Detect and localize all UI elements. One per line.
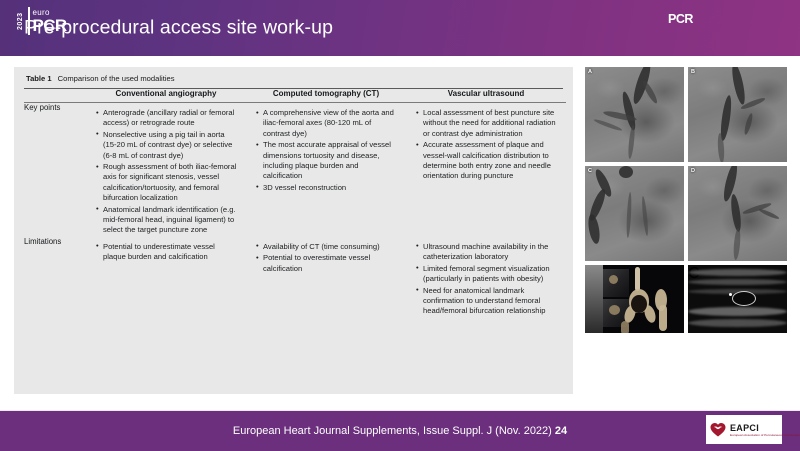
- table-header-row: Conventional angiography Computed tomogr…: [24, 89, 566, 98]
- list-item: Need for anatomical landmark confirmatio…: [416, 286, 558, 317]
- footer-page-number: 24: [555, 425, 567, 437]
- table-caption: Table 1Comparison of the used modalities: [24, 73, 563, 84]
- bullet-list: Ultrasound machine availability in the c…: [406, 237, 566, 317]
- angiography-panel-a: A: [585, 67, 684, 162]
- cell-limitations-ct: Availability of CT (time consuming) Pote…: [246, 237, 406, 318]
- panel-label-b: B: [691, 69, 695, 75]
- europcr-logo-divider: [28, 7, 30, 35]
- list-item: Potential to overestimate vessel calcifi…: [256, 253, 398, 274]
- list-item: Anterograde (ancillary radial or femoral…: [96, 108, 238, 129]
- vessel-shape: [733, 228, 742, 260]
- footer-citation-main: European Heart Journal Supplements, Issu…: [233, 425, 555, 437]
- table-corner-cell: [24, 89, 86, 98]
- heart-icon: [710, 422, 726, 437]
- vessel-shape: [586, 213, 601, 244]
- ct-slice: [585, 265, 603, 333]
- row-label-key-points: Key points: [24, 103, 86, 237]
- bone-shape: [609, 305, 620, 315]
- europcr-logo: 2023 euro PCR: [16, 7, 67, 35]
- bottom-figure-grid: C: [585, 265, 787, 333]
- table-row-limitations: Limitations Potential to underestimate v…: [24, 237, 566, 318]
- column-header-computed-tomography: Computed tomography (CT): [246, 89, 406, 98]
- tissue-layer: [688, 307, 787, 316]
- femur-shape: [659, 305, 667, 331]
- bullet-list: Anterograde (ancillary radial or femoral…: [86, 103, 246, 236]
- list-item: The most accurate appraisal of vessel di…: [256, 140, 398, 182]
- comparison-table: Conventional angiography Computed tomogr…: [24, 89, 566, 318]
- panel-label-d: D: [691, 168, 695, 174]
- angiography-panel-c: C: [585, 166, 684, 261]
- cell-key-points-angiography: Anterograde (ancillary radial or femoral…: [86, 103, 246, 237]
- bullet-list: A comprehensive view of the aorta and il…: [246, 103, 406, 193]
- list-item: A comprehensive view of the aorta and il…: [256, 108, 398, 139]
- footer-bar: European Heart Journal Supplements, Issu…: [0, 410, 800, 451]
- vessel-shape: [743, 113, 754, 136]
- table-head: Conventional angiography Computed tomogr…: [24, 89, 566, 103]
- vessel-shape: [627, 125, 636, 159]
- tissue-layer: [688, 319, 787, 327]
- pelvic-cavity: [631, 295, 647, 313]
- list-item: Ultrasound machine availability in the c…: [416, 242, 558, 263]
- tissue-layer: [688, 269, 787, 276]
- pcr-logo: PCR: [668, 12, 693, 26]
- vessel-shape: [729, 194, 742, 233]
- eapci-logo: EAPCI European Association of Percutaneo…: [706, 415, 782, 444]
- bone-shape: [609, 275, 618, 284]
- table-caption-label: Table 1: [26, 74, 52, 83]
- list-item: Rough assessment of both iliac-femoral a…: [96, 162, 238, 204]
- panel-label-c: C: [588, 168, 592, 174]
- list-item: Local assessment of best puncture site w…: [416, 108, 558, 139]
- eapci-logo-name: EAPCI: [730, 423, 800, 433]
- vessel-shape: [626, 192, 632, 238]
- bullet-list: Potential to underestimate vessel plaque…: [86, 237, 246, 263]
- list-item: 3D vessel reconstruction: [256, 183, 398, 193]
- europcr-logo-year: 2023: [16, 7, 25, 35]
- vessel-shape: [593, 118, 623, 132]
- spine-shape: [635, 267, 640, 291]
- table-body: Key points Anterograde (ancillary radial…: [24, 103, 566, 318]
- list-item: Potential to underestimate vessel plaque…: [96, 242, 238, 263]
- cell-limitations-angiography: Potential to underestimate vessel plaque…: [86, 237, 246, 318]
- bullet-list: Local assessment of best puncture site w…: [406, 103, 566, 182]
- table-caption-text: Comparison of the used modalities: [58, 74, 175, 83]
- cell-key-points-ct: A comprehensive view of the aorta and il…: [246, 103, 406, 237]
- vessel-lumen: [732, 291, 756, 306]
- list-item: Anatomical landmark identification (e.g.…: [96, 205, 238, 236]
- vessel-shape: [758, 208, 780, 221]
- angiography-panel-b: B: [688, 67, 787, 162]
- ct-reconstruction-panel: [585, 265, 684, 333]
- vessel-shape: [641, 196, 649, 236]
- europcr-logo-pcr: PCR: [33, 17, 67, 34]
- list-item: Limited femoral segment visualization (p…: [416, 264, 558, 285]
- comparison-table-card: Table 1Comparison of the used modalities…: [14, 67, 573, 394]
- footer-citation: European Heart Journal Supplements, Issu…: [0, 425, 800, 437]
- bullet-list: Availability of CT (time consuming) Pote…: [246, 237, 406, 274]
- figure-stack: A B C: [585, 67, 787, 333]
- eapci-logo-subtitle: European Association of Percutaneous Car…: [730, 433, 800, 437]
- panel-label-a: A: [588, 69, 592, 75]
- vessel-shape: [619, 166, 633, 178]
- list-item: Accurate assessment of plaque and vessel…: [416, 140, 558, 182]
- angiography-grid: A B C: [585, 67, 787, 261]
- tissue-layer: [688, 279, 787, 285]
- cell-limitations-ultrasound: Ultrasound machine availability in the c…: [406, 237, 566, 318]
- femur-shape: [621, 321, 629, 333]
- list-item: Availability of CT (time consuming): [256, 242, 398, 252]
- column-header-vascular-ultrasound: Vascular ultrasound: [406, 89, 566, 98]
- ultrasound-panel: C: [688, 265, 787, 333]
- cell-key-points-ultrasound: Local assessment of best puncture site w…: [406, 103, 566, 237]
- table-row-key-points: Key points Anterograde (ancillary radial…: [24, 103, 566, 237]
- row-label-limitations: Limitations: [24, 237, 86, 318]
- page-title: Pre-procedural access site work-up: [24, 17, 333, 40]
- column-header-conventional-angiography: Conventional angiography: [86, 89, 246, 98]
- angiography-panel-d: D: [688, 166, 787, 261]
- list-item: Nonselective using a pig tail in aorta (…: [96, 130, 238, 161]
- vessel-shape: [730, 67, 748, 105]
- slide-title-bar: Pre-procedural access site work-up: [0, 0, 800, 56]
- needle-tip-marker: [729, 293, 732, 296]
- slide: Pre-procedural access site work-up Table…: [0, 0, 800, 450]
